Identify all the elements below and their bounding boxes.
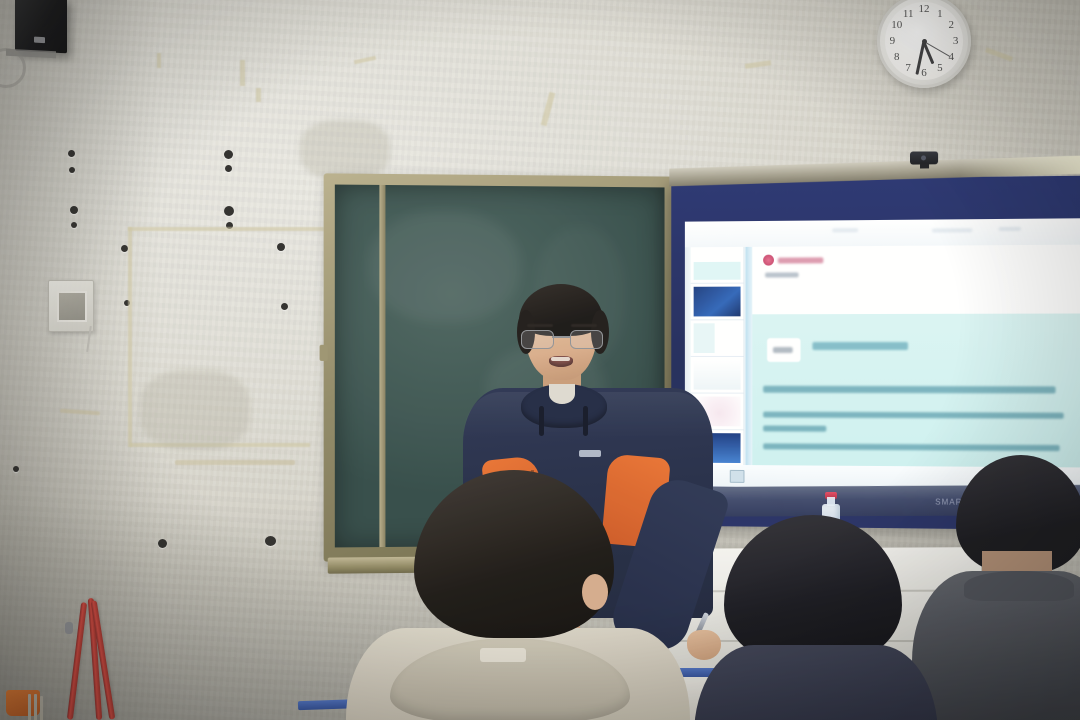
slide-thumbnail[interactable]	[691, 247, 744, 284]
slide-logo-text	[778, 257, 823, 263]
presenter-eyebrow	[571, 324, 597, 327]
clock-number: 1	[937, 8, 943, 20]
wall-smudge	[300, 120, 390, 180]
nail-hole	[121, 245, 128, 252]
glasses-lens-right	[570, 330, 603, 349]
clock-number: 3	[953, 35, 959, 47]
classroom-photo: 12 1 2 3 4 5 6 7 8 9 10 11	[0, 0, 1080, 720]
broom-bristle	[40, 696, 43, 720]
nail-hole	[224, 150, 233, 159]
app-toolbar[interactable]	[685, 218, 1080, 247]
toolbar-ghost-control	[832, 228, 858, 232]
clock-number: 2	[949, 19, 955, 31]
student-middle	[700, 515, 930, 720]
student-left-hood-tag	[480, 648, 526, 662]
wall-smudge	[140, 370, 250, 450]
nail-hole	[225, 165, 232, 172]
slide-body-line	[763, 386, 1055, 394]
clock-number: 5	[937, 62, 943, 74]
student-right-collar	[964, 571, 1074, 601]
student-left-ear	[582, 574, 608, 610]
tape-residue	[256, 88, 261, 102]
chalkboard-clip	[320, 345, 328, 361]
broom-bristle	[34, 694, 37, 720]
rail-light-glare	[960, 156, 1080, 178]
slide-body-line	[763, 443, 1060, 451]
wall-speaker	[15, 0, 67, 53]
clock-number: 8	[894, 51, 900, 63]
webcam-icon	[910, 151, 938, 164]
stage-scrollbar[interactable]	[745, 247, 752, 465]
clock-number: 6	[921, 67, 927, 79]
slide-stage[interactable]	[745, 245, 1080, 468]
organization-logo-icon	[763, 255, 774, 266]
slide-chip-label	[773, 347, 793, 353]
tape-residue	[240, 60, 245, 86]
toolbar-ghost-control	[999, 227, 1021, 231]
webcam-lens	[921, 155, 926, 160]
clock-number: 7	[905, 62, 911, 74]
broom-handle-tip	[65, 622, 73, 634]
student-middle-jacket	[694, 645, 938, 720]
broom-bristle	[28, 694, 31, 720]
toolbar-ghost-control	[932, 228, 972, 232]
electrical-junction-box	[48, 280, 94, 332]
slide-title-text	[812, 342, 908, 350]
webcam-mount	[920, 163, 929, 168]
tape-residue	[128, 227, 132, 447]
clock-number: 10	[891, 19, 902, 31]
presenter-drawcord	[539, 406, 544, 436]
nail-hole	[71, 222, 77, 228]
eyeglasses-icon	[521, 330, 601, 348]
presenter-teeth	[551, 357, 570, 361]
student-right	[930, 455, 1080, 720]
tape-residue	[157, 53, 161, 68]
nail-hole	[224, 206, 234, 216]
presenter-hoodie-logo	[579, 450, 601, 457]
student-middle-hair	[724, 515, 902, 665]
nail-hole	[13, 466, 19, 472]
glasses-bridge	[552, 336, 570, 338]
nail-hole	[277, 243, 285, 251]
student-foreground-left	[330, 470, 680, 720]
glasses-lens-left	[521, 330, 554, 349]
slide-body-line	[763, 425, 826, 431]
student-left-hair	[414, 470, 614, 638]
clock-number: 9	[890, 35, 896, 47]
wall-scuff	[175, 460, 295, 465]
slide-body-line	[763, 412, 1064, 419]
presenter-eyebrow	[527, 324, 553, 327]
nail-hole	[265, 536, 276, 546]
presenter-drawcord	[583, 406, 588, 436]
nail-hole	[68, 150, 75, 157]
nail-hole	[281, 303, 288, 310]
slide-logo-row	[763, 254, 823, 265]
nail-hole	[69, 167, 75, 173]
smartboard-screen[interactable]	[685, 218, 1080, 489]
clock-center-pin	[922, 39, 927, 44]
tape-residue	[128, 227, 324, 231]
presenter-inner-shirt	[549, 384, 575, 404]
nail-hole	[158, 539, 167, 548]
slide-subtitle-text	[765, 272, 799, 277]
clock-number: 11	[903, 8, 914, 20]
junction-box-window	[57, 291, 87, 322]
clock-number: 12	[919, 3, 930, 15]
speaker-brand-badge	[34, 37, 45, 44]
nail-hole	[70, 206, 78, 214]
